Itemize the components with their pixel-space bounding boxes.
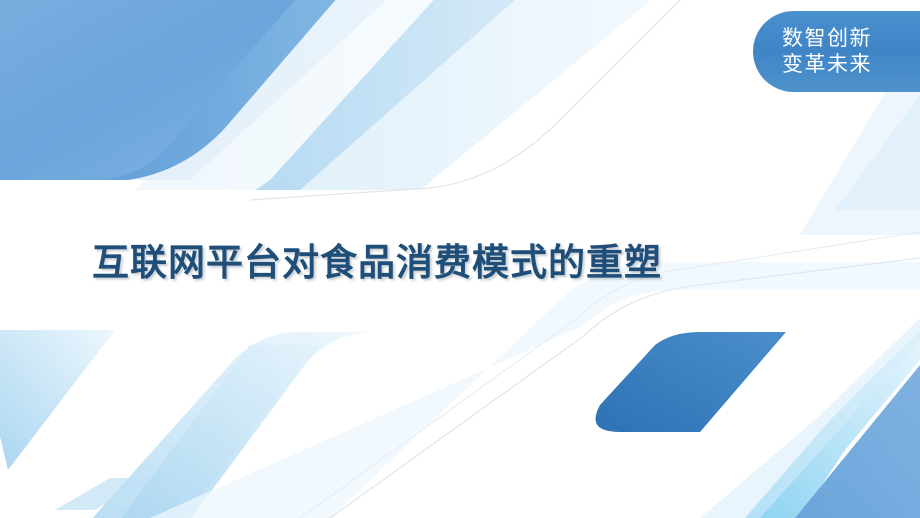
deco-outline-top — [250, 0, 700, 200]
deco-center-sweep — [150, 262, 920, 518]
slide-title: 互联网平台对食品消费模式的重塑 — [92, 232, 662, 286]
deco-top-band-pale — [190, 0, 700, 190]
deco-right-band-pale-2 — [835, 95, 920, 210]
badge-line-1: 数智创新 — [782, 26, 920, 52]
deco-bottom-left-band-3 — [55, 332, 375, 518]
deco-bottom-left-band-2 — [90, 345, 320, 518]
deco-top-band-light — [135, 0, 560, 190]
deco-top-band-mid — [60, 0, 430, 180]
deco-top-white-sweep — [0, 0, 470, 235]
deco-top-left-panel — [0, 0, 330, 180]
deco-bottom-right-wedge-pale — [700, 318, 920, 518]
deco-bottom-parallelogram — [596, 332, 787, 432]
badge-line-2: 变革未来 — [782, 52, 920, 78]
deco-bottom-edge-sliver — [55, 478, 150, 510]
deco-top-band-dark — [5, 0, 320, 160]
deco-bottom-right-wedge — [795, 365, 920, 518]
deco-outline-bottom — [330, 258, 920, 518]
title-slide: 数智创新 变革未来 互联网平台对食品消费模式的重塑 — [0, 0, 920, 518]
deco-bottom-left-band-1 — [0, 330, 115, 470]
corner-badge: 数智创新 变革未来 — [753, 11, 920, 92]
deco-bottom-right-wedge-light — [745, 330, 920, 518]
